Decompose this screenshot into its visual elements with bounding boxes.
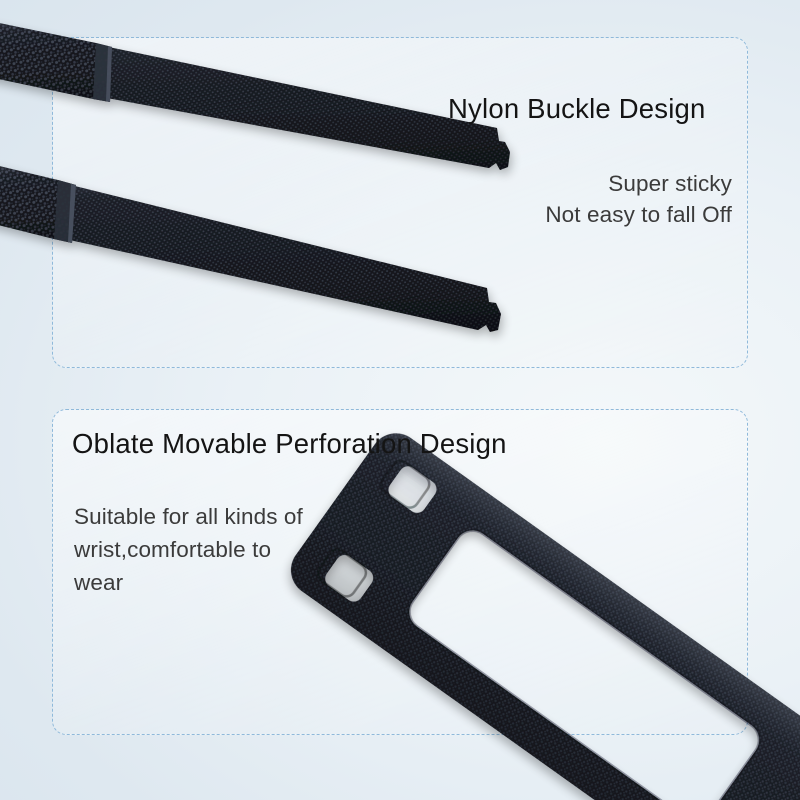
product-infographic: Nylon Buckle Design Super sticky Not eas…: [0, 0, 800, 800]
panel-oblate-perforation-heading: Oblate Movable Perforation Design: [72, 428, 507, 460]
panel-nylon-buckle-body-line-2: Not easy to fall Off: [420, 199, 732, 230]
panel-oblate-perforation-body-line-3: wear: [74, 566, 374, 599]
panel-nylon-buckle-body-line-1: Super sticky: [420, 168, 732, 199]
panel-oblate-perforation-body-line-1: Suitable for all kinds of: [74, 500, 374, 533]
panel-oblate-perforation-body-line-2: wrist,comfortable to: [74, 533, 374, 566]
panel-nylon-buckle-heading: Nylon Buckle Design: [448, 93, 706, 125]
panel-oblate-perforation-body: Suitable for all kinds of wrist,comforta…: [74, 500, 374, 599]
panel-nylon-buckle-body: Super sticky Not easy to fall Off: [420, 168, 732, 230]
